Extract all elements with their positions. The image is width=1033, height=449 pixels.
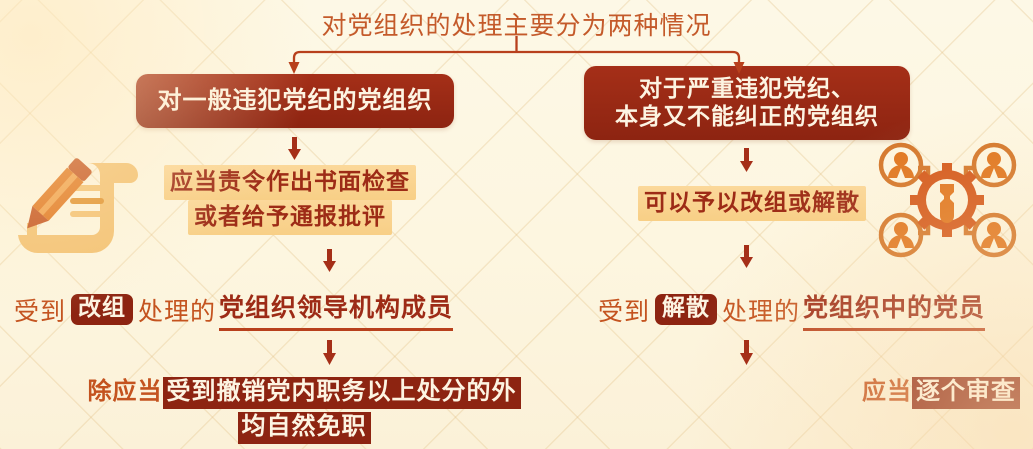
- root-arrow-left: [289, 62, 300, 74]
- root-arrow-right: [734, 62, 745, 74]
- root-split-connector: [294, 36, 739, 70]
- infographic-canvas: 对党组织的处理主要分为两种情况 对一般违犯党纪的党组织 对于严重违犯党纪、 本身…: [0, 0, 1033, 449]
- connector-layer: [0, 0, 1033, 449]
- down-arrows: [288, 137, 753, 365]
